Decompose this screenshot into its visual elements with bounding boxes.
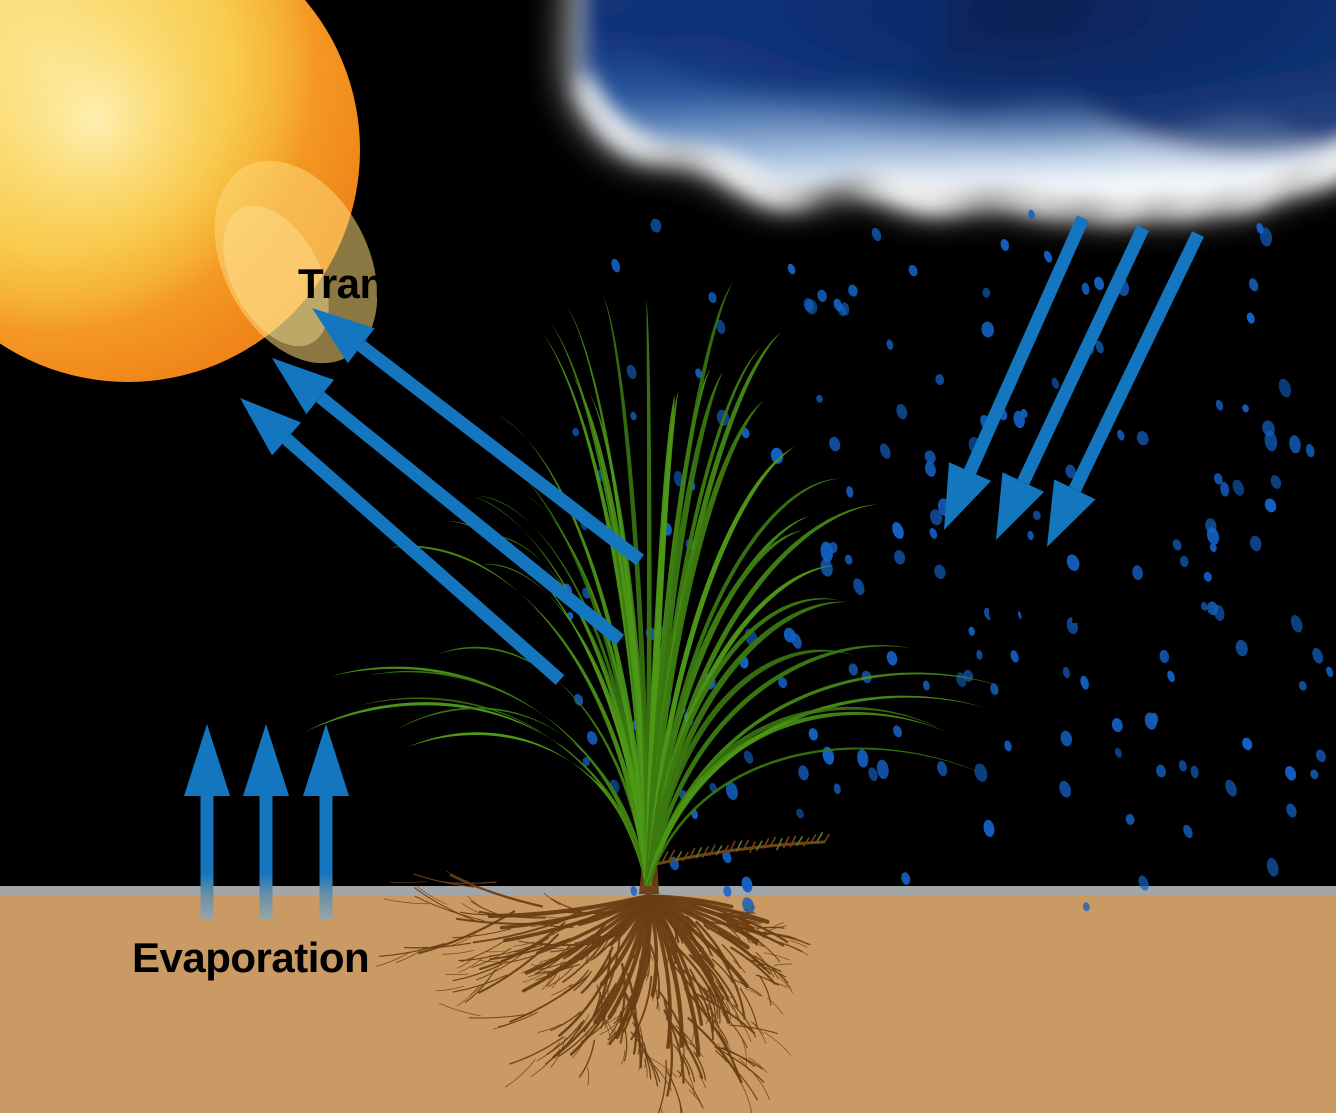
- transpiration-arrows: [240, 308, 644, 685]
- evaporation-arrows: [184, 724, 349, 920]
- water-cycle-diagram: Transpiration Precipitation Evaporation: [0, 0, 1336, 1113]
- label-evaporation: Evaporation: [132, 934, 369, 982]
- label-precipitation: Precipitation: [944, 585, 1192, 633]
- precipitation-arrows: [944, 215, 1204, 547]
- label-transpiration: Transpiration: [298, 260, 558, 308]
